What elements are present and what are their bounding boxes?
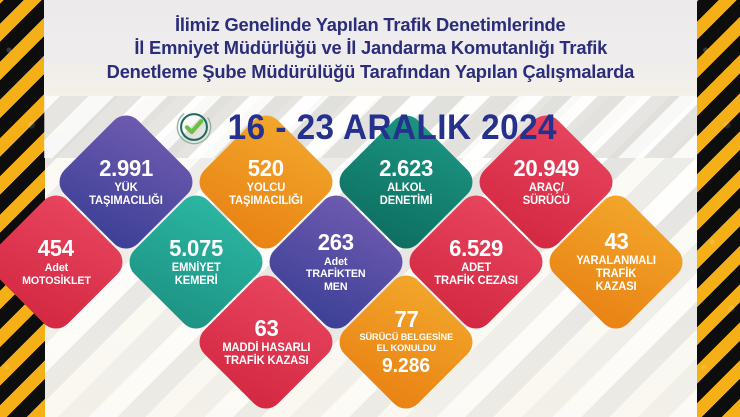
stat-tile-grid: 2.991YÜKTAŞIMACILIĞI520YOLCUTAŞIMACILIĞI… xyxy=(0,0,740,417)
green-check-circle-icon xyxy=(175,108,213,146)
stat-value: 2.623 xyxy=(379,157,433,180)
stat-tile-yaralanmali-trafik-kazasi: 43YARALANMALITRAFİKKAZASI xyxy=(542,188,689,335)
stat-tile-content: 454AdetMOTOSİKLET xyxy=(0,196,122,328)
stat-value: 5.075 xyxy=(169,237,223,260)
stat-tile-content: 77SÜRÜCÜ BELGESİNEEL KONULDU9.286 xyxy=(340,276,472,408)
stat-value: 6.529 xyxy=(449,237,503,260)
stat-label: SÜRÜCÜ BELGESİNEEL KONULDU xyxy=(359,333,453,355)
stat-label: MADDİ HASARLITRAFİK KAZASI xyxy=(222,342,310,368)
stat-value: 63 xyxy=(254,317,278,340)
infographic-poster: İlimiz Genelinde Yapılan Trafik Denetiml… xyxy=(0,0,740,417)
stat-tile-motosiklet: 454AdetMOTOSİKLET xyxy=(0,188,130,335)
stat-label: YARALANMALITRAFİKKAZASI xyxy=(576,255,656,294)
stat-tile-content: 43YARALANMALITRAFİKKAZASI xyxy=(550,196,682,328)
stat-extra-value: 9.286 xyxy=(382,356,430,376)
stat-tile-content: 63MADDİ HASARLITRAFİK KAZASI xyxy=(200,276,332,408)
stat-tile-maddi-hasarli-trafik-kazasi: 63MADDİ HASARLITRAFİK KAZASI xyxy=(192,268,339,415)
stat-value: 454 xyxy=(38,237,74,260)
stat-value: 2.991 xyxy=(99,157,153,180)
stat-value: 520 xyxy=(248,157,284,180)
stat-value: 77 xyxy=(394,308,418,331)
date-range-text: 16 - 23 ARALIK 2024 xyxy=(228,110,557,145)
stat-value: 263 xyxy=(318,231,354,254)
stat-value: 20.949 xyxy=(513,157,579,180)
stat-value: 43 xyxy=(604,230,628,253)
stat-label: AdetMOTOSİKLET xyxy=(22,262,91,287)
stat-tile-surucu-belgesine-el-konuldu: 77SÜRÜCÜ BELGESİNEEL KONULDU9.286 xyxy=(332,268,479,415)
